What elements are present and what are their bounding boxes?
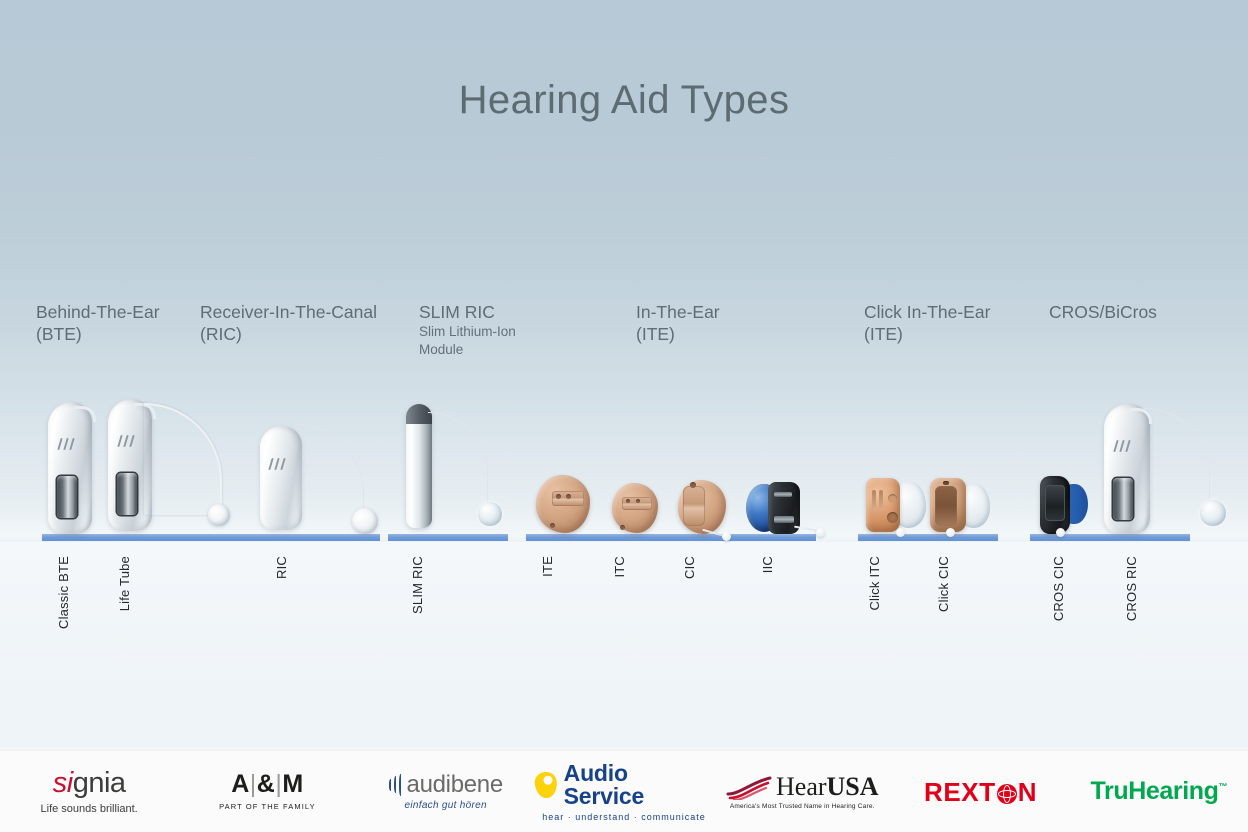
device-label-cros-cic: CROS CIC	[1051, 556, 1066, 621]
am-letter-m: M	[282, 770, 303, 798]
device-label-iic: IIC	[760, 556, 775, 573]
category-bte-abbr: (BTE)	[36, 323, 160, 345]
category-ric-abbr: (RIC)	[200, 323, 377, 345]
category-slim-ric-main: SLIM RIC	[419, 301, 516, 323]
audio-service-wordmark: Audio Service	[564, 762, 713, 808]
ear-dome	[352, 508, 378, 534]
audio-service-tagline: hear · understand · communicate	[542, 812, 706, 822]
category-bte-main: Behind-The-Ear	[36, 301, 160, 323]
category-heading-click-ite: Click In-The-Ear (ITE)	[864, 301, 990, 346]
device-cros-ric	[1104, 404, 1150, 534]
brand-slash-mark	[270, 458, 288, 470]
device-label-cros-ric: CROS RIC	[1124, 556, 1139, 621]
ear-dome	[208, 504, 230, 526]
removal-handle	[946, 528, 955, 537]
device-label-click-cic: Click CIC	[936, 556, 951, 612]
category-heading-slim-ric: SLIM RIC Slim Lithium-Ion Module	[419, 301, 516, 358]
category-ite-main: In-The-Ear	[636, 301, 720, 323]
device-ric	[260, 426, 302, 530]
shelf-line-ite	[526, 534, 816, 541]
wave-swoosh-icon	[726, 774, 772, 800]
device-cic	[678, 480, 726, 534]
category-click-ite-main: Click In-The-Ear	[864, 301, 990, 323]
audio-service-row: Audio Service	[535, 762, 713, 808]
shelf-line-cros	[1030, 534, 1190, 541]
brand-slash-mark	[119, 435, 137, 447]
shelf-line-click-ite	[858, 534, 998, 541]
vent-slot	[872, 490, 876, 510]
globe-icon	[997, 784, 1017, 804]
category-ric-main: Receiver-In-The-Canal	[200, 301, 377, 323]
am-letter-a: A	[231, 770, 250, 798]
truhearing-wordmark: TruHearing™	[1091, 779, 1228, 804]
microphone-port	[626, 499, 630, 503]
vent-slot	[879, 490, 883, 510]
truhearing-word: TruHearing	[1091, 777, 1219, 805]
am-ampersand: &	[257, 770, 276, 798]
vent-port	[550, 523, 555, 528]
battery-slot	[774, 492, 792, 497]
hearing-aid-types-poster: Hearing Aid Types Behind-The-Ear (BTE) R…	[0, 0, 1248, 832]
receiver-wire	[294, 424, 364, 520]
audibene-wordmark: audibene	[407, 773, 503, 797]
ear-hook-icon	[74, 406, 96, 422]
rexton-word-a: REXT	[924, 777, 996, 807]
signia-word-a: si	[53, 767, 73, 799]
logo-audibene: audibene einfach gut hören	[357, 773, 535, 811]
category-ite-abbr: (ITE)	[636, 323, 720, 345]
logo-audio-service: Audio Service hear · understand · commun…	[535, 762, 713, 822]
audibene-tagline: einfach gut hören	[405, 800, 487, 811]
logo-a-and-m: A|&|M PART OF THE FAMILY	[178, 772, 356, 811]
removal-handle	[722, 532, 731, 541]
cros-cic-faceplate	[1045, 485, 1065, 521]
shelf-line-ric	[240, 534, 380, 541]
category-click-ite-abbr: (ITE)	[864, 323, 990, 345]
sound-tube	[144, 403, 222, 515]
microphone-grille	[887, 512, 898, 523]
push-button	[888, 494, 897, 503]
volume-rocker-button	[1113, 478, 1133, 520]
ear-dome-clear	[1200, 500, 1226, 526]
device-label-slim-ric: SLIM RIC	[410, 556, 425, 614]
device-ite	[536, 475, 590, 533]
removal-handle	[816, 528, 825, 537]
device-label-classic-bte: Classic BTE	[56, 556, 71, 629]
am-wordmark: A|&|M	[231, 772, 303, 797]
device-classic-bte	[48, 402, 92, 534]
am-tagline: PART OF THE FAMILY	[219, 802, 316, 811]
signia-wordmark: signia	[53, 769, 126, 798]
category-heading-bte: Behind-The-Ear (BTE)	[36, 301, 160, 346]
microphone-port	[943, 481, 949, 485]
ear-dome-clear	[478, 502, 502, 526]
click-cic-faceplate	[935, 486, 957, 526]
shelf-line-bte	[42, 534, 242, 541]
hearusa-word-a: Hear	[776, 772, 827, 801]
logo-hearusa: HearUSA America's Most Trusted Name in H…	[713, 774, 891, 810]
device-label-cic: CIC	[682, 556, 697, 579]
microphone-port	[556, 494, 561, 499]
hearusa-row: HearUSA	[726, 774, 879, 800]
brand-slash-mark	[1115, 440, 1133, 452]
signia-word-b: gnia	[73, 767, 126, 799]
microphone-port	[566, 494, 571, 499]
device-label-click-itc: Click ITC	[867, 556, 882, 611]
removal-handle	[1056, 528, 1065, 537]
battery-door	[774, 516, 794, 523]
speech-drop-icon	[534, 770, 558, 798]
hearusa-tagline: America's Most Trusted Name in Hearing C…	[730, 803, 875, 810]
logo-rexton: REXTN	[891, 779, 1069, 805]
category-heading-cros: CROS/BiCros	[1049, 301, 1157, 323]
signia-tagline: Life sounds brilliant.	[41, 803, 138, 815]
device-itc	[612, 483, 658, 533]
volume-rocker-button	[117, 473, 137, 515]
vent-port	[620, 525, 625, 530]
microphone-port	[690, 482, 696, 488]
device-label-life-tube: Life Tube	[117, 556, 132, 611]
rexton-wordmark: REXTN	[924, 779, 1037, 805]
device-label-ite: ITE	[540, 556, 555, 577]
receiver-wire	[428, 412, 488, 522]
hearusa-wordmark: HearUSA	[776, 774, 879, 800]
microphone-port	[636, 499, 640, 503]
category-cros-main: CROS/BiCros	[1049, 301, 1157, 323]
brand-logo-bar: signia Life sounds brilliant. A|&|M PART…	[0, 750, 1248, 832]
device-label-ric: RIC	[274, 556, 289, 579]
device-label-itc: ITC	[612, 556, 627, 578]
brand-slash-mark	[59, 438, 77, 450]
rexton-word-b: N	[1018, 777, 1037, 807]
cic-faceplate	[683, 486, 705, 526]
hearusa-word-b: USA	[827, 772, 879, 801]
sound-wave-icon	[389, 774, 404, 796]
receiver-wire	[1144, 408, 1210, 516]
category-heading-ric: Receiver-In-The-Canal (RIC)	[200, 301, 377, 346]
device-life-tube	[108, 399, 152, 531]
volume-rocker-button	[57, 476, 77, 518]
cros-cic-body	[1040, 476, 1070, 534]
shelf-line-slim-ric	[388, 534, 508, 541]
category-heading-ite: In-The-Ear (ITE)	[636, 301, 720, 346]
category-slim-ric-sub1: Slim Lithium-Ion	[419, 323, 516, 340]
logo-signia: signia Life sounds brilliant.	[0, 769, 178, 815]
page-title: Hearing Aid Types	[0, 78, 1248, 123]
bte-body	[48, 402, 92, 534]
logo-truhearing: TruHearing™	[1070, 779, 1248, 804]
audibene-row: audibene	[389, 773, 503, 797]
truhearing-trademark: ™	[1219, 782, 1228, 792]
device-slim-ric	[406, 404, 432, 528]
removal-handle	[896, 528, 905, 537]
category-slim-ric-sub2: Module	[419, 341, 516, 358]
